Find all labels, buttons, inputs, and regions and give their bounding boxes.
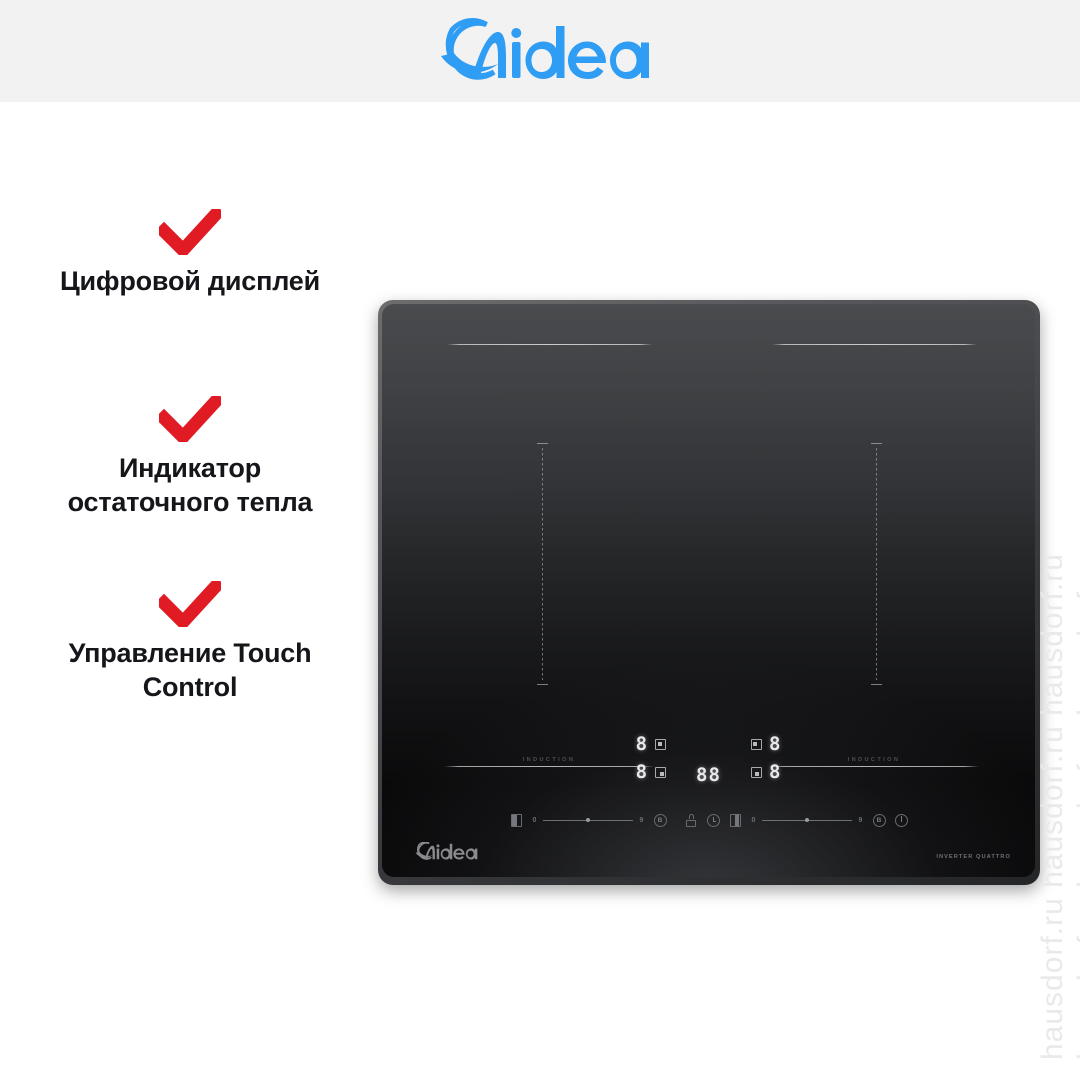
divider-cap-bottom [871,684,882,685]
page-header [0,0,1080,102]
cooktop-model-mark: INVERTER QUATTRO [936,854,1011,860]
watermark-text: hausdorf.ru hausdorf.ru hausdorf.ru [1036,553,1070,1060]
child-lock-button[interactable] [680,812,702,828]
cooktop-frame: INDUCTION INDUCTION 8 8 [378,300,1040,885]
power-icon [895,814,908,827]
divider-cap-top [537,443,548,444]
lock-icon [685,814,698,827]
timer-button[interactable] [702,812,724,828]
pot-position-icon [751,767,762,778]
boost-icon: B [873,814,886,827]
cooktop-glass-surface: INDUCTION INDUCTION 8 8 [382,304,1035,877]
pot-position-icon [655,767,666,778]
right-front-level: 8 [769,763,781,782]
feature-label-line-2: Control [0,670,380,705]
cooktop-brand-logo [410,842,480,861]
left-zone-displays: 8 8 [636,735,666,782]
feature-label-line-1: Управление Touch [0,636,380,671]
slider-min-label-right: 0 [750,817,757,824]
right-rear-level: 8 [769,735,781,754]
feature-item-digital-display: Цифровой дисплей [0,200,380,299]
slider-min-label-left: 0 [531,817,538,824]
feature-list: Цифровой дисплей Индикатор остаточного т… [0,200,380,745]
slider-track-right[interactable] [762,820,852,821]
boost-icon: B [654,814,667,827]
right-rear-display: 8 [751,735,781,754]
slider-knob-right[interactable] [805,818,809,822]
zone-boundary-line-left [447,344,652,345]
checkmark-wrap [0,200,380,264]
touch-control-panel: 8 8 88 8 [382,735,1035,831]
zone-boundary-line-right [772,344,977,345]
induction-cooktop: INDUCTION INDUCTION 8 8 [378,300,1040,885]
touch-slider-row: 0 9 B [382,809,1035,831]
left-rear-display: 8 [636,735,666,754]
midea-circle-swoosh-logo [410,842,480,861]
boost-button-right[interactable]: B [868,812,890,828]
checkmark-wrap [0,572,380,636]
midea-logo [424,12,656,90]
watermark-text: hausdorf.ru hausdorf.ru hausdorf.ru [1072,553,1080,1060]
timer-display: 88 [666,735,751,785]
zone-divider-left [537,443,548,685]
timer-icon [707,814,720,827]
red-checkmark-icon [159,209,221,255]
slider-max-label-right: 9 [857,817,864,824]
divider-cap-top [871,443,882,444]
left-rear-level: 8 [636,735,648,754]
feature-label-line-1: Индикатор [0,451,380,486]
feature-label: Цифровой дисплей [0,264,380,299]
feature-item-touch-control: Управление Touch Control [0,572,380,705]
pot-position-icon [655,739,666,750]
right-front-display: 8 [751,763,781,782]
divider-dots [542,448,543,680]
flex-zone-icon [730,814,741,827]
power-slider-left[interactable]: 0 9 [531,817,645,824]
slider-knob-left[interactable] [586,818,590,822]
feature-item-residual-heat: Индикатор остаточного тепла [0,387,380,520]
divider-dots [876,448,877,680]
midea-circle-swoosh-logo [424,12,656,90]
feature-label-line-2: остаточного тепла [0,485,380,520]
timer-value: 88 [696,766,721,785]
power-button[interactable] [890,812,912,828]
divider-cap-bottom [537,684,548,685]
pot-position-icon [751,739,762,750]
flex-zone-button-right[interactable] [724,812,746,828]
slider-track-left[interactable] [543,820,633,821]
flex-zone-button-left[interactable] [505,812,527,828]
left-front-level: 8 [636,763,648,782]
digital-display-row: 8 8 88 8 [382,735,1035,785]
flex-zone-icon [511,814,522,827]
slider-max-label-left: 9 [638,817,645,824]
power-slider-right[interactable]: 0 9 [750,817,864,824]
right-zone-displays: 8 8 [751,735,781,782]
red-checkmark-icon [159,581,221,627]
boost-button-left[interactable]: B [649,812,671,828]
left-front-display: 8 [636,763,666,782]
red-checkmark-icon [159,396,221,442]
checkmark-wrap [0,387,380,451]
zone-divider-right [871,443,882,685]
